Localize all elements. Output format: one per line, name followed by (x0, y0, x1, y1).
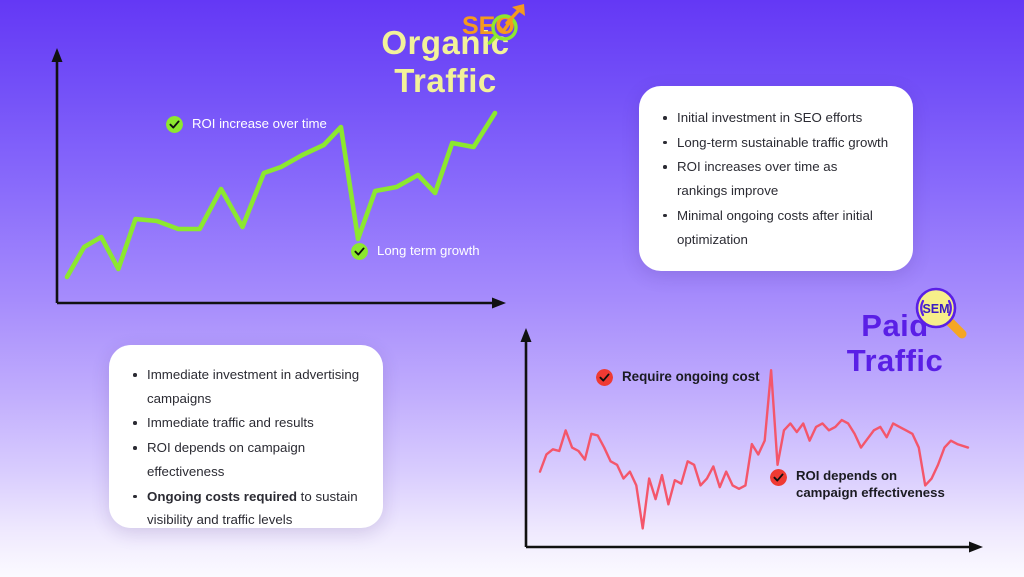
list-item: Ongoing costs required to sustain visibi… (131, 485, 363, 532)
list-item: ROI increases over time as rankings impr… (661, 155, 891, 202)
callout-long-term-growth-label: Long term growth (377, 242, 480, 259)
list-item: Immediate investment in advertising camp… (131, 363, 363, 410)
infographic-canvas: Organic Traffic SEO Paid Traffic SEM ROI… (0, 0, 1024, 577)
paid-title-line-2: Traffic (800, 345, 990, 376)
callout-roi-increase-label: ROI increase over time (192, 115, 327, 132)
callout-require-ongoing-cost-label: Require ongoing cost (622, 368, 760, 385)
list-item: ROI depends on campaign effectiveness (131, 436, 363, 483)
callout-roi-increase: ROI increase over time (166, 115, 327, 133)
seo-logo-icon: SEO (462, 2, 530, 50)
callout-roi-depends-label: ROI depends on campaign effectiveness (796, 468, 945, 501)
check-circle-green-icon (166, 116, 183, 133)
check-circle-green-icon (351, 243, 368, 260)
callout-roi-depends-line-2: campaign effectiveness (796, 485, 945, 502)
sem-logo-text: SEM (922, 302, 949, 316)
organic-traffic-info-card: Initial investment in SEO effortsLong-te… (639, 86, 913, 271)
callout-roi-depends: ROI depends on campaign effectiveness (770, 468, 945, 501)
callout-require-ongoing-cost: Require ongoing cost (596, 368, 760, 386)
paid-traffic-line (540, 370, 968, 528)
list-item: Long-term sustainable traffic growth (661, 131, 891, 155)
paid-bullet-list: Immediate investment in advertising camp… (131, 363, 363, 532)
list-item: Initial investment in SEO efforts (661, 106, 891, 130)
sem-logo-icon: SEM (912, 284, 970, 342)
callout-long-term-growth: Long term growth (351, 242, 480, 260)
organic-bullet-list: Initial investment in SEO effortsLong-te… (661, 106, 891, 251)
list-item-emphasis: Ongoing costs required (147, 489, 297, 504)
list-item: Immediate traffic and results (131, 411, 363, 435)
callout-roi-depends-line-1: ROI depends on (796, 468, 945, 485)
paid-traffic-info-card: Immediate investment in advertising camp… (109, 345, 383, 528)
list-item: Minimal ongoing costs after initial opti… (661, 204, 891, 251)
check-circle-red-icon (596, 369, 613, 386)
check-circle-red-icon (770, 469, 787, 486)
organic-title-line-2: Traffic (338, 64, 553, 97)
